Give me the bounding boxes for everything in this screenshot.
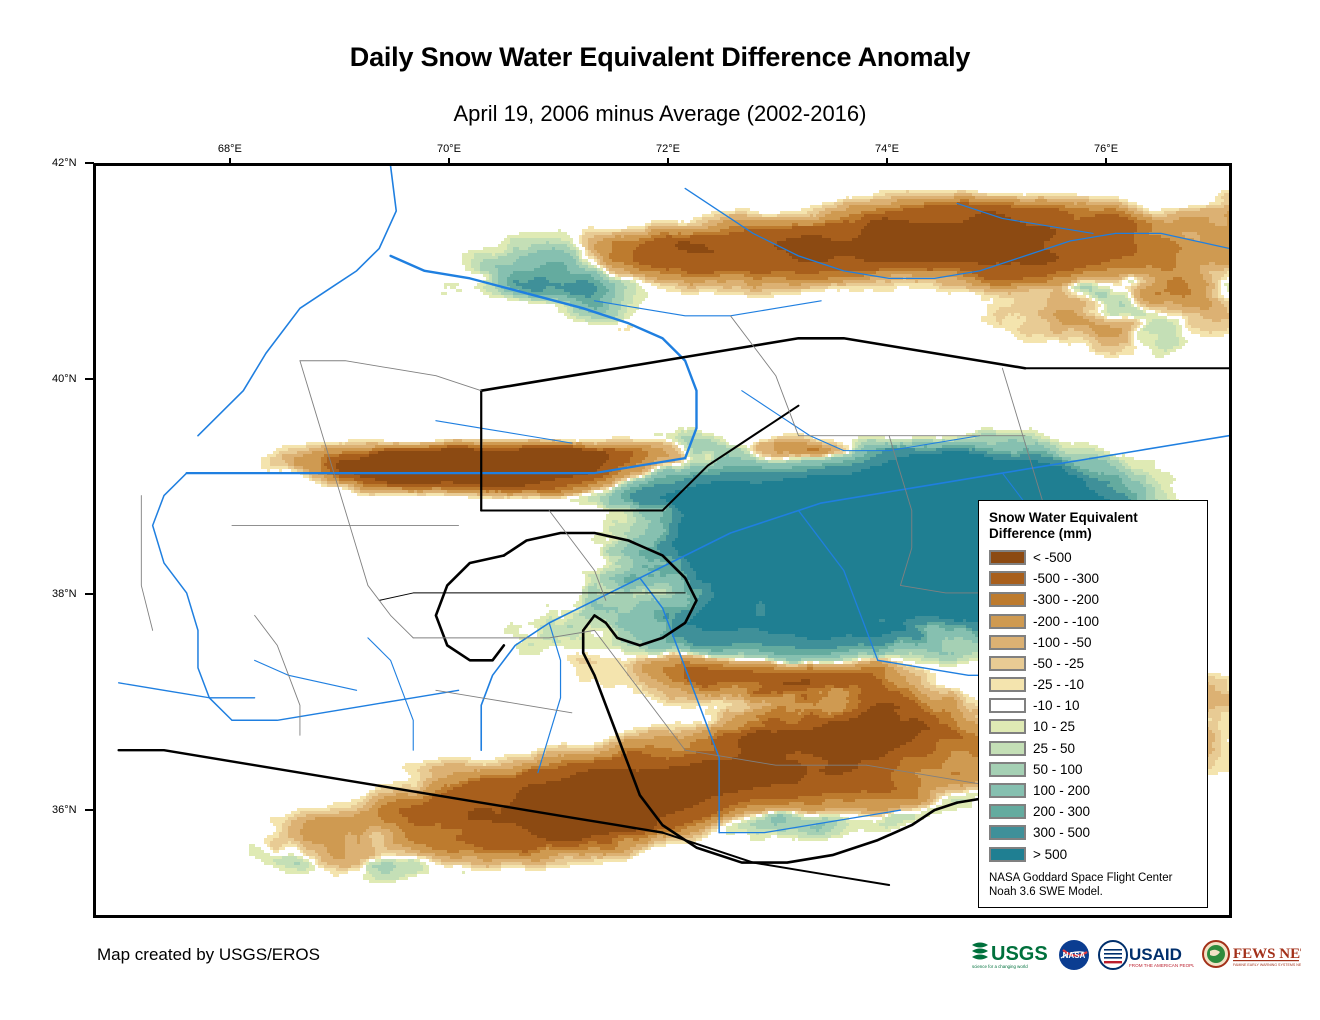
- page-title: Daily Snow Water Equivalent Difference A…: [0, 42, 1320, 73]
- map-credit: Map created by USGS/EROS: [97, 945, 320, 965]
- lon-tick-label: 76°E: [1094, 143, 1118, 155]
- river-line: [198, 166, 396, 436]
- legend-label: -50 - -25: [1033, 656, 1084, 671]
- legend-swatch: [989, 592, 1026, 607]
- lon-tick-label: 72°E: [656, 143, 680, 155]
- legend-swatch: [989, 762, 1026, 777]
- legend-label: > 500: [1033, 847, 1067, 862]
- legend-swatch: [989, 614, 1026, 629]
- border-country: [436, 555, 504, 660]
- legend-swatch: [989, 550, 1026, 565]
- legend-row: < -500: [989, 547, 1197, 568]
- legend-swatch: [989, 804, 1026, 819]
- legend-label: -100 - -50: [1033, 635, 1092, 650]
- legend-row: > 500: [989, 843, 1197, 864]
- legend-row: 25 - 50: [989, 738, 1197, 759]
- legend-swatch: [989, 719, 1026, 734]
- border-admin: [730, 316, 798, 436]
- lon-tick-label: 70°E: [437, 143, 461, 155]
- legend-row: 50 - 100: [989, 759, 1197, 780]
- legend-row: -300 - -200: [989, 589, 1197, 610]
- usgs-logo: USGSscience for a changing world: [970, 937, 1050, 973]
- legend-swatch: [989, 783, 1026, 798]
- legend-swatch: [989, 635, 1026, 650]
- nasa-logo: NASA: [1057, 937, 1091, 973]
- legend-row: -50 - -25: [989, 653, 1197, 674]
- legend-row: 200 - 300: [989, 801, 1197, 822]
- legend-row: 300 - 500: [989, 822, 1197, 843]
- legend-row: -10 - 10: [989, 695, 1197, 716]
- legend-label: -500 - -300: [1033, 571, 1099, 586]
- legend-swatch: [989, 677, 1026, 692]
- svg-text:USAID: USAID: [1129, 945, 1182, 964]
- legend-swatch: [989, 698, 1026, 713]
- river-line: [368, 638, 413, 750]
- border-admin: [436, 690, 572, 712]
- legend-label: 10 - 25: [1033, 719, 1075, 734]
- river-line: [119, 683, 255, 698]
- lon-tick-label: 74°E: [875, 143, 899, 155]
- svg-text:FROM THE AMERICAN PEOPLE: FROM THE AMERICAN PEOPLE: [1129, 963, 1194, 968]
- border-admin: [300, 361, 481, 391]
- page-subtitle: April 19, 2006 minus Average (2002-2016): [0, 101, 1320, 127]
- fewsnet-logo: FEWS NETFAMINE EARLY WARNING SYSTEMS NET…: [1201, 937, 1301, 973]
- legend-swatch: [989, 656, 1026, 671]
- legend-row: 10 - 25: [989, 716, 1197, 737]
- lat-tick-label: 36°N: [52, 804, 77, 816]
- legend-swatch: [989, 741, 1026, 756]
- legend-label: 25 - 50: [1033, 741, 1075, 756]
- river-line: [153, 473, 232, 720]
- legend-label: 300 - 500: [1033, 825, 1090, 840]
- legend-panel: Snow Water Equivalent Difference (mm) < …: [978, 500, 1208, 908]
- river-line: [232, 690, 459, 720]
- river-line: [255, 660, 357, 690]
- legend-title: Snow Water Equivalent Difference (mm): [989, 510, 1197, 542]
- legend-label: 100 - 200: [1033, 783, 1090, 798]
- legend-row: -200 - -100: [989, 610, 1197, 631]
- legend-label: -25 - -10: [1033, 677, 1084, 692]
- legend-swatch: [989, 825, 1026, 840]
- lat-tick-label: 40°N: [52, 373, 77, 385]
- svg-text:science for a changing world: science for a changing world: [972, 964, 1028, 969]
- legend-class-list: < -500-500 - -300-300 - -200-200 - -100-…: [989, 547, 1197, 865]
- legend-label: -300 - -200: [1033, 592, 1099, 607]
- logo-bar: USGSscience for a changing worldNASAUSAI…: [970, 936, 1301, 974]
- legend-row: -100 - -50: [989, 632, 1197, 653]
- legend-row: -500 - -300: [989, 568, 1197, 589]
- lat-tick-label: 38°N: [52, 588, 77, 600]
- legend-row: 100 - 200: [989, 780, 1197, 801]
- legend-swatch: [989, 571, 1026, 586]
- legend-swatch: [989, 847, 1026, 862]
- usaid-logo: USAIDFROM THE AMERICAN PEOPLE: [1098, 937, 1194, 973]
- legend-row: -25 - -10: [989, 674, 1197, 695]
- legend-label: < -500: [1033, 550, 1072, 565]
- legend-source-note: NASA Goddard Space Flight Center Noah 3.…: [989, 871, 1197, 900]
- lon-tick-label: 68°E: [218, 143, 242, 155]
- title-block: Daily Snow Water Equivalent Difference A…: [0, 0, 1320, 127]
- lat-tick-label: 42°N: [52, 157, 77, 169]
- svg-text:FAMINE EARLY WARNING SYSTEMS N: FAMINE EARLY WARNING SYSTEMS NETWORK: [1233, 963, 1301, 967]
- svg-text:USGS: USGS: [991, 943, 1048, 965]
- border-admin: [141, 496, 152, 631]
- legend-label: -200 - -100: [1033, 614, 1099, 629]
- legend-label: 200 - 300: [1033, 804, 1090, 819]
- legend-label: -10 - 10: [1033, 698, 1080, 713]
- svg-text:FEWS NET: FEWS NET: [1233, 946, 1301, 962]
- svg-text:NASA: NASA: [1063, 951, 1086, 960]
- legend-label: 50 - 100: [1033, 762, 1083, 777]
